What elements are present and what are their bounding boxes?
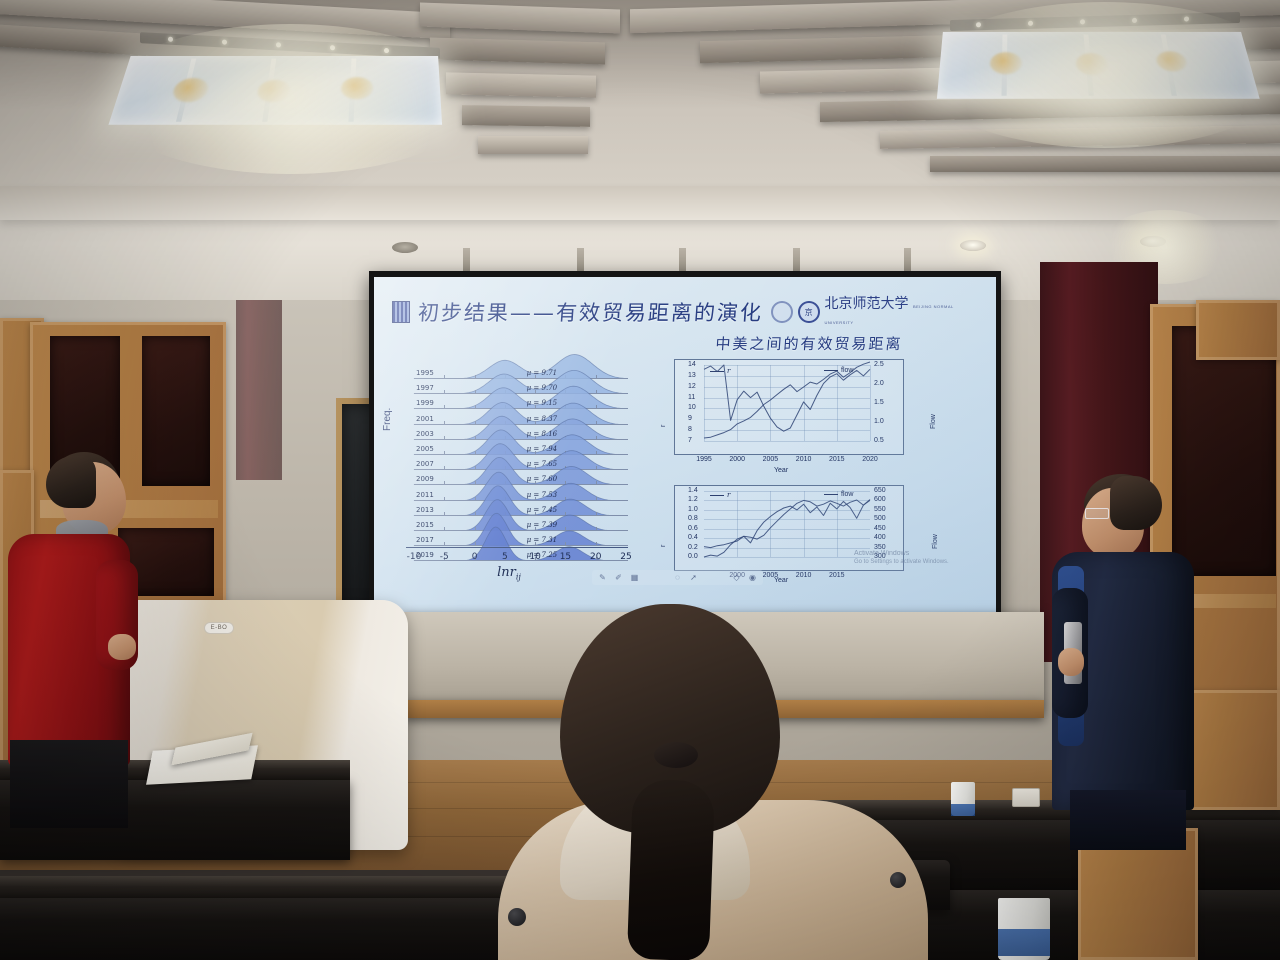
ridgeline-x-tick-label: 15 — [560, 552, 571, 562]
wooden-chair-back — [1186, 690, 1280, 810]
ridgeline-x-tick-label: 10 — [529, 552, 540, 562]
watermark-line-1: Activate Windows — [854, 549, 949, 558]
chart-legend-entry: flow — [824, 367, 853, 374]
recessed-downlight — [1140, 236, 1166, 247]
legend-swatch — [824, 370, 838, 371]
ridgeline-x-tick-label: 5 — [502, 552, 508, 562]
cabinet-recess — [142, 336, 210, 486]
ridgeline-x-tick-label: -10 — [407, 552, 422, 562]
chart-x-tick-label: 2020 — [862, 456, 878, 463]
ridgeline-plot-area: 1995μ = 9.711997μ = 9.701999μ = 9.152001… — [406, 339, 628, 545]
ceiling-light-panel — [108, 56, 442, 125]
slide-grid-icon[interactable]: ▦ — [629, 572, 640, 583]
university-name: 北京师范大学 BEIJING NORMAL UNIVERSITY — [825, 296, 983, 328]
ridgeline-chart: Freq. 1995μ = 9.711997μ = 9.701999μ = 9.… — [384, 335, 634, 585]
chart-top-x-axis-title: Year — [774, 467, 788, 474]
ridgeline-x-tick-label: 0 — [472, 552, 478, 562]
cup-band — [998, 929, 1050, 956]
title-bullet-icon — [392, 301, 410, 323]
coat-button — [508, 908, 526, 926]
chart-china-us-distance-top: 78910111213140.51.01.52.02.5199520002005… — [674, 359, 904, 455]
seal-watermark-icon — [771, 301, 793, 323]
ridgeline-x-tick-label: -5 — [440, 552, 449, 562]
audience-desk-front-row — [0, 898, 560, 960]
university-name-cn: 北京师范大学 — [825, 296, 909, 312]
magnifier-icon[interactable]: ◌ — [672, 572, 683, 583]
presenter-red-trousers — [10, 740, 128, 828]
paper-cup — [998, 898, 1050, 960]
presenter-navy-hand — [1058, 648, 1084, 676]
chart-bottom-y-axis-title: r — [660, 545, 667, 547]
ridgeline-y-axis-label: Freq. — [382, 408, 393, 431]
slide-title: 初步结果——有效贸易距离的演化 — [417, 297, 764, 327]
audience-ponytail — [627, 779, 715, 960]
ceiling — [0, 0, 1280, 200]
chart-x-tick-label: 2015 — [829, 572, 845, 579]
legend-swatch — [710, 371, 724, 372]
presenter-navy-trousers — [1070, 790, 1186, 850]
cabinet-recess — [1172, 326, 1276, 576]
watermark-line-2: Go to Settings to activate Windows. — [854, 559, 949, 565]
legend-swatch — [710, 495, 724, 496]
presentation-slide: 初步结果——有效贸易距离的演化 京 北京师范大学 BEIJING NORMAL … — [374, 277, 996, 613]
laser-icon[interactable]: ◉ — [747, 572, 758, 583]
ridgeline-x-axis-label-sub: ij — [516, 573, 521, 582]
highlighter-icon[interactable]: ✐ — [613, 572, 624, 583]
wall-wood-trim — [1196, 300, 1280, 360]
curtain — [236, 300, 282, 480]
slide-header: 初步结果——有效贸易距离的演化 京 北京师范大学 BEIJING NORMAL … — [392, 295, 986, 329]
coat-button — [890, 872, 906, 888]
ceiling-beam — [446, 72, 596, 97]
chart-bottom-x-axis-title: Year — [774, 577, 788, 584]
legend-label: r — [727, 367, 730, 375]
ceiling-beam — [462, 105, 590, 127]
bnu-seal-icon: 京 — [798, 301, 820, 323]
presenter-red-hand — [108, 634, 136, 660]
ceiling-light-panel — [937, 32, 1260, 99]
legend-label: flow — [841, 367, 853, 374]
chart-x-tick-label: 2010 — [796, 572, 812, 579]
right-section-title: 中美之间的有效贸易距离 — [643, 333, 974, 354]
chart-x-tick-label: 1995 — [696, 456, 712, 463]
podium-logo-badge: E-BO — [204, 622, 234, 634]
hair-tie — [654, 742, 698, 768]
cup-band — [951, 804, 975, 816]
chart-legend-entry: r — [710, 367, 730, 375]
projection-screen: 初步结果——有效贸易距离的演化 京 北京师范大学 BEIJING NORMAL … — [374, 277, 996, 613]
eyeglasses-icon — [1085, 508, 1109, 519]
legend-label: r — [727, 491, 730, 499]
presenter-navy-hair-back — [1110, 476, 1162, 530]
chart-legend-entry: r — [710, 491, 730, 499]
pointer-icon[interactable]: ➚ — [688, 572, 699, 583]
chart-bottom-y2-axis-title: Flow — [932, 534, 939, 549]
university-logo: 京 北京师范大学 BEIJING NORMAL UNIVERSITY — [771, 296, 986, 328]
paper-cup — [951, 782, 975, 816]
pen-icon[interactable]: ✎ — [597, 572, 608, 583]
chart-top-y2-axis-title: Flow — [930, 414, 937, 429]
ceiling-soffit — [0, 186, 1280, 220]
chart-top-y-axis-title: r — [660, 425, 667, 427]
recessed-downlight — [392, 242, 418, 253]
eraser-icon[interactable]: ◇ — [731, 572, 742, 583]
chart-x-tick-label: 2010 — [796, 456, 812, 463]
projection-screen-frame: 初步结果——有效贸易距离的演化 京 北京师范大学 BEIJING NORMAL … — [369, 271, 1001, 623]
ridgeline-x-tick-label: 25 — [620, 552, 631, 562]
wall-power-outlet — [1012, 788, 1040, 807]
recessed-downlight — [960, 240, 986, 251]
chart-x-tick-label: 2000 — [729, 456, 745, 463]
ceiling-beam — [930, 156, 1280, 172]
legend-swatch — [824, 494, 838, 495]
chart-x-tick-label: 2015 — [829, 456, 845, 463]
ridgeline-x-tick-label: 20 — [590, 552, 601, 562]
legend-label: flow — [841, 491, 853, 498]
ridgeline-x-axis-label-main: lnr — [497, 565, 516, 580]
powerpoint-presenter-toolbar[interactable]: ✎✐▦◌➚◇◉ — [592, 570, 763, 585]
lecture-hall-scene: 初步结果——有效贸易距离的演化 京 北京师范大学 BEIJING NORMAL … — [0, 0, 1280, 960]
ridgeline-x-ticks: -10-50510152025 — [406, 547, 628, 563]
presenter-red-hair-back — [46, 456, 96, 508]
chart-legend-entry: flow — [824, 491, 853, 498]
chart-x-tick-label: 2005 — [763, 456, 779, 463]
windows-activation-watermark: Activate Windows Go to Settings to activ… — [854, 549, 949, 567]
ceiling-beam — [478, 136, 588, 154]
